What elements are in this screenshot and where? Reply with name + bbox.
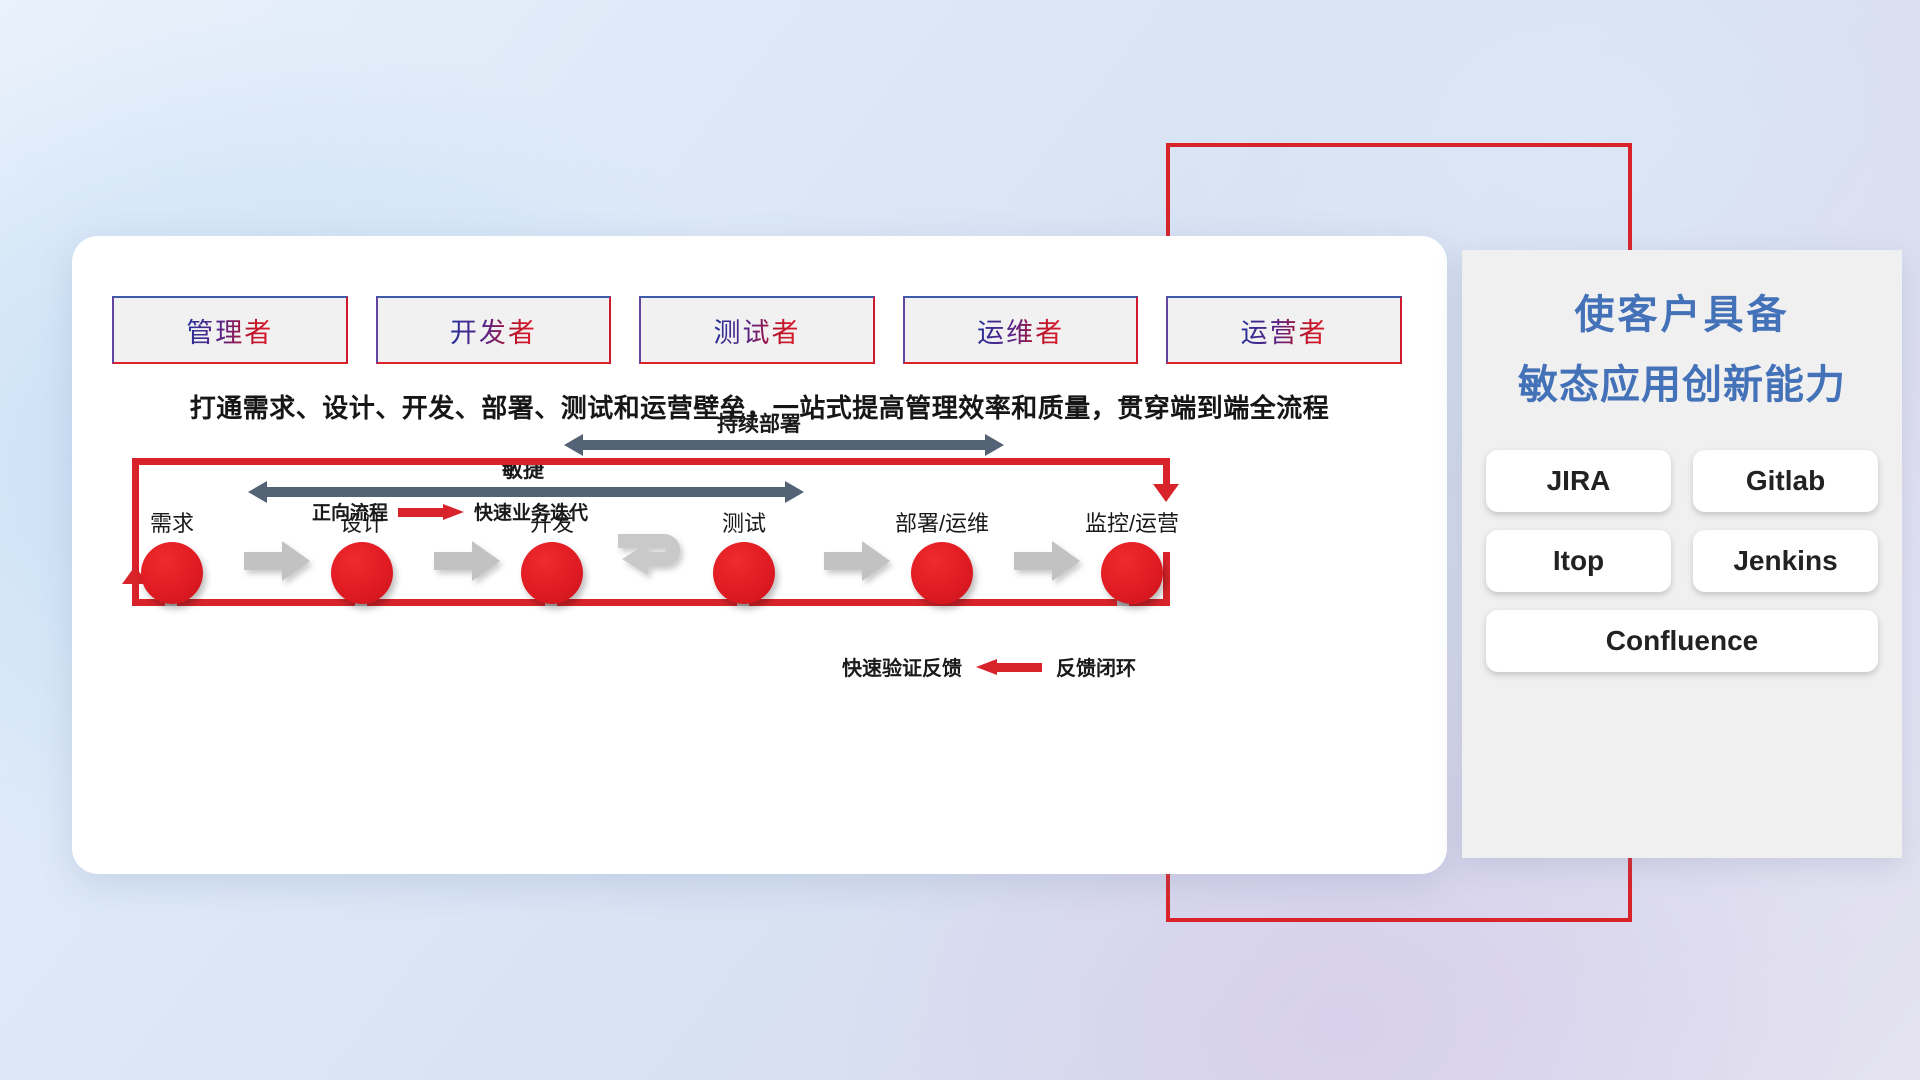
grey-arrow-right-icon-1 (244, 541, 310, 581)
pipeline-stage-label: 需求 (112, 506, 232, 538)
panel-heading: 使客户具备 敏态应用创新能力 (1462, 286, 1902, 414)
role-box-operations[interactable]: 运营者 (1166, 296, 1402, 364)
role-label: 运维者 (977, 311, 1064, 350)
pipeline-stage-circle (141, 542, 203, 604)
tool-chip-gitlab[interactable]: Gitlab (1693, 450, 1878, 512)
main-card: 管理者 开发者 测试者 运维者 运营者 打通需求、设计、开发、部署、测试和运营壁… (72, 236, 1447, 874)
tool-chip-jira[interactable]: JIRA (1486, 450, 1671, 512)
role-label: 管理者 (186, 311, 273, 350)
red-arrow-left-icon (976, 659, 1042, 675)
continuous-deployment-arrow (564, 434, 1004, 456)
pipeline-stage-testing[interactable]: 测试 (684, 506, 804, 604)
grey-arrow-right-icon-2 (434, 541, 500, 581)
legend-feedback-left-label: 快速验证反馈 (842, 652, 962, 681)
role-label: 运营者 (1241, 311, 1328, 350)
tool-chip-itop[interactable]: Itop (1486, 530, 1671, 592)
pipeline-stage-monitor-operations[interactable]: 监控/运营 (1072, 506, 1192, 604)
role-box-developer[interactable]: 开发者 (376, 296, 612, 364)
grey-arrow-right-icon-4 (1014, 541, 1080, 581)
pipeline-stage-requirement[interactable]: 需求 (112, 506, 232, 604)
pipeline-stage-label: 部署/运维 (882, 506, 1002, 538)
right-panel: 使客户具备 敏态应用创新能力 JIRA Gitlab Itop Jenkins … (1462, 250, 1902, 858)
tool-grid: JIRA Gitlab Itop Jenkins Confluence (1486, 450, 1878, 672)
agile-arrow (248, 481, 804, 503)
legend-feedback-right-label: 反馈闭环 (1056, 652, 1136, 681)
pipeline-stage-label: 设计 (302, 506, 422, 538)
role-box-ops[interactable]: 运维者 (903, 296, 1139, 364)
pipeline-stage-circle (1101, 542, 1163, 604)
pipeline-stage-label: 测试 (684, 506, 804, 538)
role-box-tester[interactable]: 测试者 (639, 296, 875, 364)
pipeline-stage-circle (713, 542, 775, 604)
pipeline-stage-circle (331, 542, 393, 604)
role-label: 开发者 (450, 311, 537, 350)
pipeline-stage-development[interactable]: 开发 (492, 506, 612, 604)
pipeline-stage-design[interactable]: 设计 (302, 506, 422, 604)
red-loop-down-arrow-icon (1153, 484, 1179, 502)
grey-arrow-right-icon-3 (824, 541, 890, 581)
panel-heading-line2: 敏态应用创新能力 (1462, 356, 1902, 414)
pipeline-stage-label: 监控/运营 (1072, 506, 1192, 538)
pipeline-stage-circle (911, 542, 973, 604)
roles-row: 管理者 开发者 测试者 运维者 运营者 (112, 296, 1402, 364)
pipeline-stage-circle (521, 542, 583, 604)
tool-chip-confluence[interactable]: Confluence (1486, 610, 1878, 672)
pipeline-stage-deploy-ops[interactable]: 部署/运维 (882, 506, 1002, 604)
panel-heading-line1: 使客户具备 (1462, 286, 1902, 344)
tool-chip-jenkins[interactable]: Jenkins (1693, 530, 1878, 592)
role-label: 测试者 (713, 311, 800, 350)
pipeline: 需求 设计 开发 测试 (112, 506, 1402, 636)
red-loop-top-segment (132, 458, 1170, 465)
role-box-manager[interactable]: 管理者 (112, 296, 348, 364)
legend-feedback-loop: 快速验证反馈 反馈闭环 (842, 652, 1136, 681)
pipeline-stage-label: 开发 (492, 506, 612, 538)
